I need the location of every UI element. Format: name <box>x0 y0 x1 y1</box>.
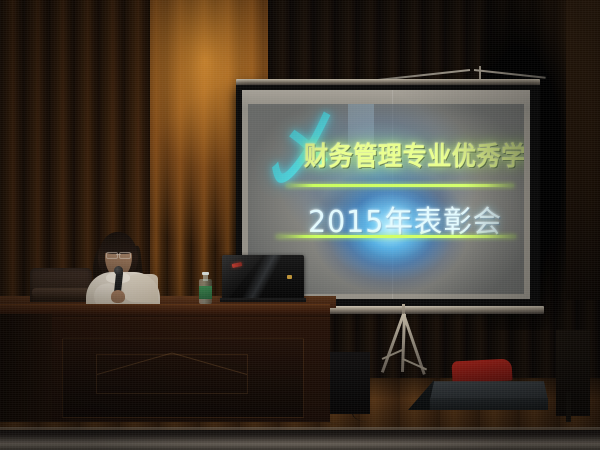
stage-monitor-speaker <box>430 378 548 412</box>
chair-right-leg <box>566 392 571 422</box>
side-wall <box>566 0 600 300</box>
podium <box>0 304 330 422</box>
screen-support-arm-right <box>474 69 546 79</box>
presentation-photo-scene: 乄 财务管理专业优秀学生 2015年表彰会 <box>0 0 600 450</box>
laptop-base <box>220 298 306 302</box>
microphone-head <box>114 266 123 275</box>
bottle-label <box>199 286 212 299</box>
laptop-sticker-icon <box>287 275 292 279</box>
speaker-person <box>84 232 174 306</box>
water-bottle <box>199 272 212 304</box>
eyeglasses <box>106 252 131 257</box>
bottle-cap <box>202 272 209 275</box>
laptop[interactable] <box>222 255 304 301</box>
hand <box>111 290 125 303</box>
bottle-neck <box>203 274 208 281</box>
stage-front-edge <box>0 430 600 450</box>
chair-right <box>556 330 590 416</box>
chair-armrest <box>32 288 90 297</box>
dark-equipment-box <box>330 352 370 414</box>
podium-left-block <box>0 314 52 422</box>
stage-monitor-front <box>430 398 548 410</box>
podium-diamond-inlay <box>96 354 248 394</box>
lens-right <box>119 252 131 259</box>
